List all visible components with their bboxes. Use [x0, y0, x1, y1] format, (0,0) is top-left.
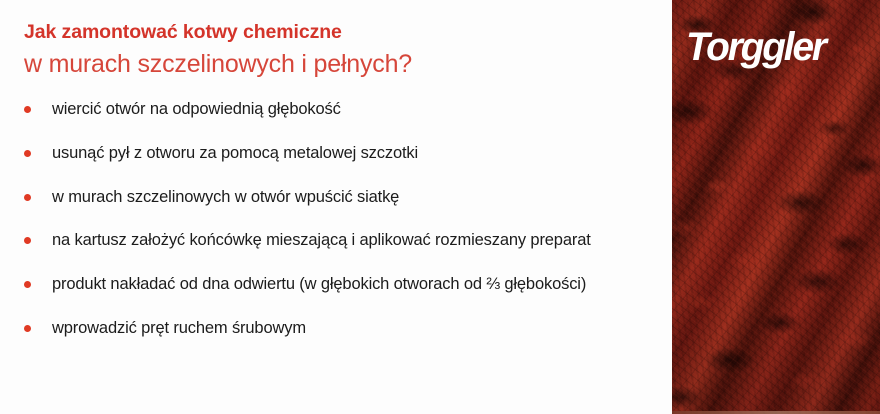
content-area: Jak zamontować kotwy chemiczne w murach … [0, 0, 672, 414]
bullet-dot-icon [24, 237, 31, 244]
brand-panel: Torggler [672, 0, 880, 414]
bullet-dot-icon [24, 106, 31, 113]
list-item-label: wprowadzić pręt ruchem śrubowym [52, 317, 652, 340]
headline-line-2: w murach szczelinowych i pełnych? [24, 48, 654, 81]
list-item: na kartusz założyć końcówkę mieszającą i… [22, 229, 652, 252]
instruction-list: wiercić otwór na odpowiednią głębokość u… [22, 98, 652, 340]
bullet-dot-icon [24, 150, 31, 157]
list-item-label: usunąć pył z otworu za pomocą metalowej … [52, 142, 652, 165]
list-item: produkt nakładać od dna odwiertu (w głęb… [22, 273, 652, 296]
list-item-label: w murach szczelinowych w otwór wpuścić s… [52, 186, 652, 209]
list-item-label: produkt nakładać od dna odwiertu (w głęb… [52, 273, 652, 296]
headline-block: Jak zamontować kotwy chemiczne w murach … [24, 20, 654, 81]
list-item: usunąć pył z otworu za pomocą metalowej … [22, 142, 652, 165]
list-item-label: wiercić otwór na odpowiednią głębokość [52, 98, 652, 121]
bullet-dot-icon [24, 325, 31, 332]
list-item: w murach szczelinowych w otwór wpuścić s… [22, 186, 652, 209]
list-item: wprowadzić pręt ruchem śrubowym [22, 317, 652, 340]
list-item: wiercić otwór na odpowiednią głębokość [22, 98, 652, 121]
brand-logo: Torggler [686, 24, 876, 70]
slide-canvas: Jak zamontować kotwy chemiczne w murach … [0, 0, 880, 414]
bullet-dot-icon [24, 281, 31, 288]
brand-logo-text: Torggler [686, 27, 825, 67]
headline-line-1: Jak zamontować kotwy chemiczne [24, 20, 654, 44]
list-item-label: na kartusz założyć końcówkę mieszającą i… [52, 229, 652, 252]
bullet-dot-icon [24, 194, 31, 201]
